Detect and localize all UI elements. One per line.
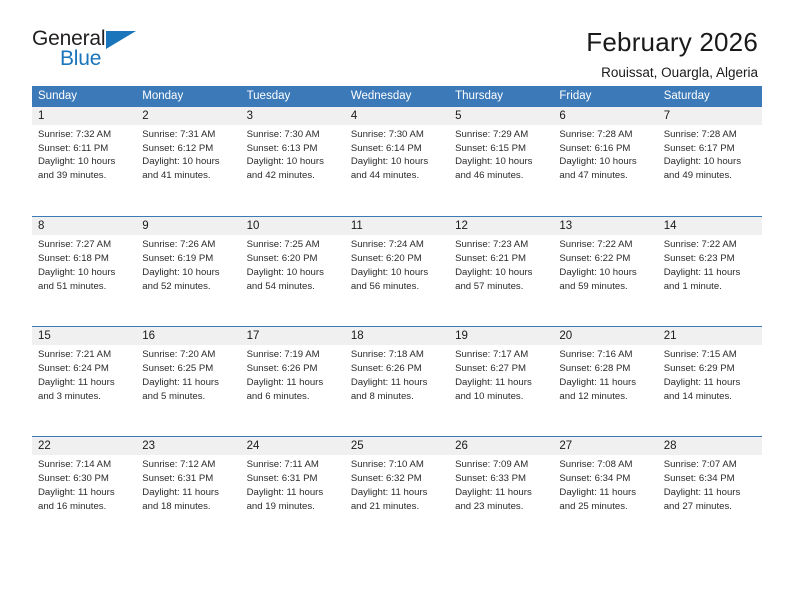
sunset-text: Sunset: 6:34 PM xyxy=(559,472,651,486)
daylight-text: Daylight: 11 hours and 16 minutes. xyxy=(38,486,130,514)
sunrise-text: Sunrise: 7:14 AM xyxy=(38,458,130,472)
calendar-day-cell[interactable]: 14Sunrise: 7:22 AMSunset: 6:23 PMDayligh… xyxy=(658,217,762,327)
day-details: Sunrise: 7:28 AMSunset: 6:16 PMDaylight:… xyxy=(553,125,657,184)
sunrise-text: Sunrise: 7:22 AM xyxy=(559,238,651,252)
sunrise-text: Sunrise: 7:32 AM xyxy=(38,128,130,142)
day-number: 16 xyxy=(136,327,240,345)
sunrise-text: Sunrise: 7:21 AM xyxy=(38,348,130,362)
sunset-text: Sunset: 6:11 PM xyxy=(38,142,130,156)
calendar-day-cell[interactable]: 9Sunrise: 7:26 AMSunset: 6:19 PMDaylight… xyxy=(136,217,240,327)
daylight-text: Daylight: 10 hours and 52 minutes. xyxy=(142,266,234,294)
day-number: 17 xyxy=(241,327,345,345)
sunset-text: Sunset: 6:12 PM xyxy=(142,142,234,156)
calendar-day-cell[interactable]: 28Sunrise: 7:07 AMSunset: 6:34 PMDayligh… xyxy=(658,437,762,547)
day-details: Sunrise: 7:09 AMSunset: 6:33 PMDaylight:… xyxy=(449,455,553,514)
day-number: 6 xyxy=(553,107,657,125)
daylight-text: Daylight: 11 hours and 19 minutes. xyxy=(247,486,339,514)
calendar-day-cell[interactable]: 13Sunrise: 7:22 AMSunset: 6:22 PMDayligh… xyxy=(553,217,657,327)
sunset-text: Sunset: 6:18 PM xyxy=(38,252,130,266)
sunrise-text: Sunrise: 7:12 AM xyxy=(142,458,234,472)
day-number: 22 xyxy=(32,437,136,455)
day-details: Sunrise: 7:19 AMSunset: 6:26 PMDaylight:… xyxy=(241,345,345,404)
sunrise-text: Sunrise: 7:30 AM xyxy=(247,128,339,142)
calendar-page: General Blue February 2026 Rouissat, Oua… xyxy=(0,0,792,612)
sunrise-text: Sunrise: 7:27 AM xyxy=(38,238,130,252)
calendar-day-cell[interactable]: 21Sunrise: 7:15 AMSunset: 6:29 PMDayligh… xyxy=(658,327,762,437)
day-details: Sunrise: 7:18 AMSunset: 6:26 PMDaylight:… xyxy=(345,345,449,404)
logo-triangle-icon xyxy=(106,31,136,49)
sunrise-text: Sunrise: 7:08 AM xyxy=(559,458,651,472)
sunset-text: Sunset: 6:17 PM xyxy=(664,142,756,156)
calendar-week-row: 22Sunrise: 7:14 AMSunset: 6:30 PMDayligh… xyxy=(32,437,762,547)
sunrise-text: Sunrise: 7:20 AM xyxy=(142,348,234,362)
weekday-header-sunday: Sunday xyxy=(32,86,136,107)
calendar-day-cell[interactable]: 25Sunrise: 7:10 AMSunset: 6:32 PMDayligh… xyxy=(345,437,449,547)
sunset-text: Sunset: 6:25 PM xyxy=(142,362,234,376)
sunrise-text: Sunrise: 7:26 AM xyxy=(142,238,234,252)
sunset-text: Sunset: 6:29 PM xyxy=(664,362,756,376)
day-details: Sunrise: 7:08 AMSunset: 6:34 PMDaylight:… xyxy=(553,455,657,514)
day-number: 26 xyxy=(449,437,553,455)
day-number: 27 xyxy=(553,437,657,455)
calendar-day-cell[interactable]: 18Sunrise: 7:18 AMSunset: 6:26 PMDayligh… xyxy=(345,327,449,437)
day-details: Sunrise: 7:17 AMSunset: 6:27 PMDaylight:… xyxy=(449,345,553,404)
sunset-text: Sunset: 6:32 PM xyxy=(351,472,443,486)
day-number: 4 xyxy=(345,107,449,125)
title-block: February 2026 Rouissat, Ouargla, Algeria xyxy=(586,28,762,81)
day-number: 1 xyxy=(32,107,136,125)
calendar-day-cell[interactable]: 19Sunrise: 7:17 AMSunset: 6:27 PMDayligh… xyxy=(449,327,553,437)
daylight-text: Daylight: 10 hours and 51 minutes. xyxy=(38,266,130,294)
day-number: 23 xyxy=(136,437,240,455)
daylight-text: Daylight: 11 hours and 25 minutes. xyxy=(559,486,651,514)
sunrise-text: Sunrise: 7:15 AM xyxy=(664,348,756,362)
calendar-day-cell[interactable]: 7Sunrise: 7:28 AMSunset: 6:17 PMDaylight… xyxy=(658,107,762,217)
day-number: 14 xyxy=(658,217,762,235)
sunset-text: Sunset: 6:23 PM xyxy=(664,252,756,266)
sunset-text: Sunset: 6:16 PM xyxy=(559,142,651,156)
calendar-day-cell[interactable]: 23Sunrise: 7:12 AMSunset: 6:31 PMDayligh… xyxy=(136,437,240,547)
sunrise-text: Sunrise: 7:24 AM xyxy=(351,238,443,252)
calendar-week-row: 8Sunrise: 7:27 AMSunset: 6:18 PMDaylight… xyxy=(32,217,762,327)
calendar-day-cell[interactable]: 26Sunrise: 7:09 AMSunset: 6:33 PMDayligh… xyxy=(449,437,553,547)
daylight-text: Daylight: 11 hours and 5 minutes. xyxy=(142,376,234,404)
day-details: Sunrise: 7:11 AMSunset: 6:31 PMDaylight:… xyxy=(241,455,345,514)
page-title: February 2026 xyxy=(586,28,758,58)
sunset-text: Sunset: 6:30 PM xyxy=(38,472,130,486)
sunset-text: Sunset: 6:13 PM xyxy=(247,142,339,156)
day-number: 3 xyxy=(241,107,345,125)
sunrise-text: Sunrise: 7:25 AM xyxy=(247,238,339,252)
sunrise-text: Sunrise: 7:16 AM xyxy=(559,348,651,362)
calendar-table: Sunday Monday Tuesday Wednesday Thursday… xyxy=(32,86,762,547)
daylight-text: Daylight: 11 hours and 18 minutes. xyxy=(142,486,234,514)
calendar-day-cell[interactable]: 4Sunrise: 7:30 AMSunset: 6:14 PMDaylight… xyxy=(345,107,449,217)
day-details: Sunrise: 7:16 AMSunset: 6:28 PMDaylight:… xyxy=(553,345,657,404)
daylight-text: Daylight: 10 hours and 57 minutes. xyxy=(455,266,547,294)
calendar-day-cell[interactable]: 2Sunrise: 7:31 AMSunset: 6:12 PMDaylight… xyxy=(136,107,240,217)
day-number: 24 xyxy=(241,437,345,455)
daylight-text: Daylight: 10 hours and 56 minutes. xyxy=(351,266,443,294)
sunrise-text: Sunrise: 7:17 AM xyxy=(455,348,547,362)
sunset-text: Sunset: 6:22 PM xyxy=(559,252,651,266)
logo-text-general: General xyxy=(32,28,105,49)
sunset-text: Sunset: 6:27 PM xyxy=(455,362,547,376)
sunrise-text: Sunrise: 7:11 AM xyxy=(247,458,339,472)
day-number: 11 xyxy=(345,217,449,235)
page-header: General Blue February 2026 Rouissat, Oua… xyxy=(0,0,792,78)
day-number: 7 xyxy=(658,107,762,125)
weekday-header-tuesday: Tuesday xyxy=(241,86,345,107)
day-number: 25 xyxy=(345,437,449,455)
day-number: 18 xyxy=(345,327,449,345)
day-number: 13 xyxy=(553,217,657,235)
weekday-header-friday: Friday xyxy=(553,86,657,107)
daylight-text: Daylight: 11 hours and 14 minutes. xyxy=(664,376,756,404)
daylight-text: Daylight: 10 hours and 54 minutes. xyxy=(247,266,339,294)
day-number: 5 xyxy=(449,107,553,125)
day-details: Sunrise: 7:15 AMSunset: 6:29 PMDaylight:… xyxy=(658,345,762,404)
day-details: Sunrise: 7:26 AMSunset: 6:19 PMDaylight:… xyxy=(136,235,240,294)
calendar-day-cell[interactable]: 20Sunrise: 7:16 AMSunset: 6:28 PMDayligh… xyxy=(553,327,657,437)
daylight-text: Daylight: 11 hours and 3 minutes. xyxy=(38,376,130,404)
calendar-week-row: 1Sunrise: 7:32 AMSunset: 6:11 PMDaylight… xyxy=(32,107,762,217)
sunset-text: Sunset: 6:15 PM xyxy=(455,142,547,156)
sunset-text: Sunset: 6:14 PM xyxy=(351,142,443,156)
day-details: Sunrise: 7:27 AMSunset: 6:18 PMDaylight:… xyxy=(32,235,136,294)
day-details: Sunrise: 7:25 AMSunset: 6:20 PMDaylight:… xyxy=(241,235,345,294)
daylight-text: Daylight: 10 hours and 46 minutes. xyxy=(455,155,547,183)
calendar-day-cell[interactable]: 27Sunrise: 7:08 AMSunset: 6:34 PMDayligh… xyxy=(553,437,657,547)
day-details: Sunrise: 7:23 AMSunset: 6:21 PMDaylight:… xyxy=(449,235,553,294)
day-number: 15 xyxy=(32,327,136,345)
sunset-text: Sunset: 6:28 PM xyxy=(559,362,651,376)
daylight-text: Daylight: 11 hours and 23 minutes. xyxy=(455,486,547,514)
day-details: Sunrise: 7:30 AMSunset: 6:14 PMDaylight:… xyxy=(345,125,449,184)
calendar-day-cell[interactable]: 16Sunrise: 7:20 AMSunset: 6:25 PMDayligh… xyxy=(136,327,240,437)
calendar-day-cell[interactable]: 12Sunrise: 7:23 AMSunset: 6:21 PMDayligh… xyxy=(449,217,553,327)
weekday-header-monday: Monday xyxy=(136,86,240,107)
day-number: 21 xyxy=(658,327,762,345)
calendar-day-cell[interactable]: 1Sunrise: 7:32 AMSunset: 6:11 PMDaylight… xyxy=(32,107,136,217)
day-number: 8 xyxy=(32,217,136,235)
calendar-day-cell[interactable]: 6Sunrise: 7:28 AMSunset: 6:16 PMDaylight… xyxy=(553,107,657,217)
sunset-text: Sunset: 6:26 PM xyxy=(247,362,339,376)
sunrise-text: Sunrise: 7:28 AM xyxy=(559,128,651,142)
day-details: Sunrise: 7:22 AMSunset: 6:22 PMDaylight:… xyxy=(553,235,657,294)
day-details: Sunrise: 7:31 AMSunset: 6:12 PMDaylight:… xyxy=(136,125,240,184)
daylight-text: Daylight: 10 hours and 59 minutes. xyxy=(559,266,651,294)
daylight-text: Daylight: 11 hours and 27 minutes. xyxy=(664,486,756,514)
day-details: Sunrise: 7:24 AMSunset: 6:20 PMDaylight:… xyxy=(345,235,449,294)
sunrise-text: Sunrise: 7:19 AM xyxy=(247,348,339,362)
day-details: Sunrise: 7:28 AMSunset: 6:17 PMDaylight:… xyxy=(658,125,762,184)
day-details: Sunrise: 7:10 AMSunset: 6:32 PMDaylight:… xyxy=(345,455,449,514)
sunset-text: Sunset: 6:26 PM xyxy=(351,362,443,376)
daylight-text: Daylight: 10 hours and 39 minutes. xyxy=(38,155,130,183)
sunset-text: Sunset: 6:24 PM xyxy=(38,362,130,376)
sunset-text: Sunset: 6:33 PM xyxy=(455,472,547,486)
logo-text-blue: Blue xyxy=(60,48,101,69)
daylight-text: Daylight: 11 hours and 1 minute. xyxy=(664,266,756,294)
calendar-day-cell[interactable]: 8Sunrise: 7:27 AMSunset: 6:18 PMDaylight… xyxy=(32,217,136,327)
calendar-day-cell[interactable]: 15Sunrise: 7:21 AMSunset: 6:24 PMDayligh… xyxy=(32,327,136,437)
day-details: Sunrise: 7:29 AMSunset: 6:15 PMDaylight:… xyxy=(449,125,553,184)
daylight-text: Daylight: 11 hours and 21 minutes. xyxy=(351,486,443,514)
daylight-text: Daylight: 11 hours and 8 minutes. xyxy=(351,376,443,404)
calendar-day-cell[interactable]: 24Sunrise: 7:11 AMSunset: 6:31 PMDayligh… xyxy=(241,437,345,547)
generalblue-logo[interactable]: General Blue xyxy=(32,28,162,78)
calendar-day-cell[interactable]: 22Sunrise: 7:14 AMSunset: 6:30 PMDayligh… xyxy=(32,437,136,547)
sunrise-text: Sunrise: 7:22 AM xyxy=(664,238,756,252)
sunrise-text: Sunrise: 7:07 AM xyxy=(664,458,756,472)
day-details: Sunrise: 7:22 AMSunset: 6:23 PMDaylight:… xyxy=(658,235,762,294)
sunset-text: Sunset: 6:31 PM xyxy=(142,472,234,486)
calendar-day-cell[interactable]: 17Sunrise: 7:19 AMSunset: 6:26 PMDayligh… xyxy=(241,327,345,437)
weekday-header-saturday: Saturday xyxy=(658,86,762,107)
day-details: Sunrise: 7:30 AMSunset: 6:13 PMDaylight:… xyxy=(241,125,345,184)
day-number: 10 xyxy=(241,217,345,235)
calendar-day-cell[interactable]: 11Sunrise: 7:24 AMSunset: 6:20 PMDayligh… xyxy=(345,217,449,327)
sunrise-text: Sunrise: 7:09 AM xyxy=(455,458,547,472)
daylight-text: Daylight: 11 hours and 12 minutes. xyxy=(559,376,651,404)
day-details: Sunrise: 7:07 AMSunset: 6:34 PMDaylight:… xyxy=(658,455,762,514)
sunset-text: Sunset: 6:20 PM xyxy=(351,252,443,266)
daylight-text: Daylight: 10 hours and 42 minutes. xyxy=(247,155,339,183)
daylight-text: Daylight: 10 hours and 49 minutes. xyxy=(664,155,756,183)
weekday-header-thursday: Thursday xyxy=(449,86,553,107)
calendar-container: Sunday Monday Tuesday Wednesday Thursday… xyxy=(32,86,762,547)
day-number: 19 xyxy=(449,327,553,345)
daylight-text: Daylight: 10 hours and 47 minutes. xyxy=(559,155,651,183)
sunrise-text: Sunrise: 7:28 AM xyxy=(664,128,756,142)
day-details: Sunrise: 7:20 AMSunset: 6:25 PMDaylight:… xyxy=(136,345,240,404)
sunset-text: Sunset: 6:19 PM xyxy=(142,252,234,266)
daylight-text: Daylight: 11 hours and 6 minutes. xyxy=(247,376,339,404)
day-number: 9 xyxy=(136,217,240,235)
sunrise-text: Sunrise: 7:30 AM xyxy=(351,128,443,142)
sunrise-text: Sunrise: 7:10 AM xyxy=(351,458,443,472)
calendar-day-cell[interactable]: 10Sunrise: 7:25 AMSunset: 6:20 PMDayligh… xyxy=(241,217,345,327)
sunrise-text: Sunrise: 7:18 AM xyxy=(351,348,443,362)
sunrise-text: Sunrise: 7:31 AM xyxy=(142,128,234,142)
calendar-day-cell[interactable]: 5Sunrise: 7:29 AMSunset: 6:15 PMDaylight… xyxy=(449,107,553,217)
sunset-text: Sunset: 6:20 PM xyxy=(247,252,339,266)
sunset-text: Sunset: 6:21 PM xyxy=(455,252,547,266)
day-number: 12 xyxy=(449,217,553,235)
calendar-body: 1Sunrise: 7:32 AMSunset: 6:11 PMDaylight… xyxy=(32,107,762,547)
calendar-week-row: 15Sunrise: 7:21 AMSunset: 6:24 PMDayligh… xyxy=(32,327,762,437)
sunset-text: Sunset: 6:34 PM xyxy=(664,472,756,486)
sunset-text: Sunset: 6:31 PM xyxy=(247,472,339,486)
day-number: 2 xyxy=(136,107,240,125)
location-subtitle: Rouissat, Ouargla, Algeria xyxy=(586,65,758,81)
daylight-text: Daylight: 10 hours and 41 minutes. xyxy=(142,155,234,183)
day-details: Sunrise: 7:12 AMSunset: 6:31 PMDaylight:… xyxy=(136,455,240,514)
day-details: Sunrise: 7:32 AMSunset: 6:11 PMDaylight:… xyxy=(32,125,136,184)
calendar-day-cell[interactable]: 3Sunrise: 7:30 AMSunset: 6:13 PMDaylight… xyxy=(241,107,345,217)
weekday-header-wednesday: Wednesday xyxy=(345,86,449,107)
day-details: Sunrise: 7:14 AMSunset: 6:30 PMDaylight:… xyxy=(32,455,136,514)
sunrise-text: Sunrise: 7:23 AM xyxy=(455,238,547,252)
day-number: 28 xyxy=(658,437,762,455)
daylight-text: Daylight: 10 hours and 44 minutes. xyxy=(351,155,443,183)
day-details: Sunrise: 7:21 AMSunset: 6:24 PMDaylight:… xyxy=(32,345,136,404)
calendar-header-row: Sunday Monday Tuesday Wednesday Thursday… xyxy=(32,86,762,107)
sunrise-text: Sunrise: 7:29 AM xyxy=(455,128,547,142)
day-number: 20 xyxy=(553,327,657,345)
daylight-text: Daylight: 11 hours and 10 minutes. xyxy=(455,376,547,404)
